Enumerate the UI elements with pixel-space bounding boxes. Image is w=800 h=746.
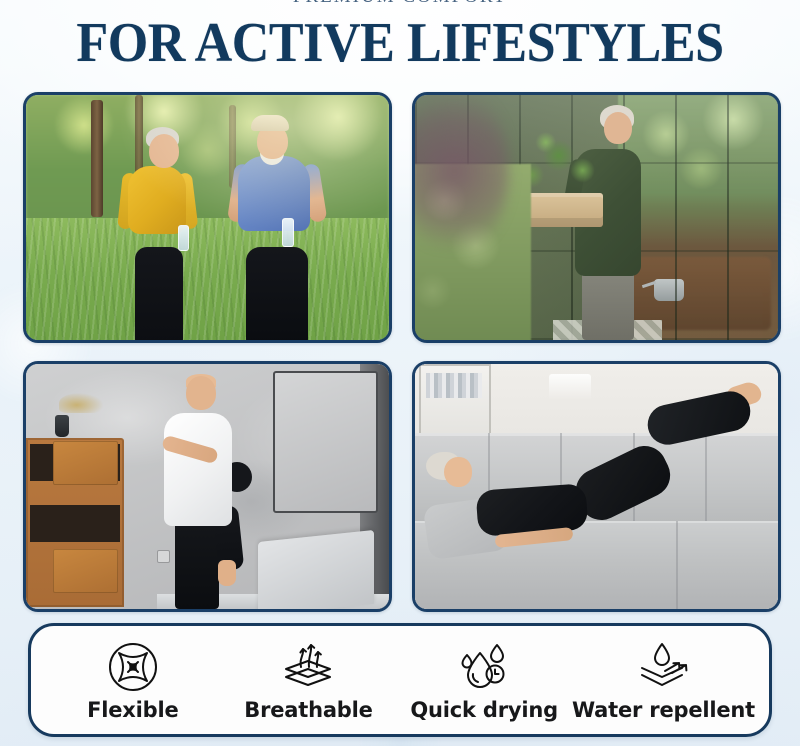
shelf-door xyxy=(53,549,118,593)
wooden-shelf-unit xyxy=(26,438,124,607)
feature-label: Breathable xyxy=(244,698,372,722)
gardener-head xyxy=(604,112,632,144)
feature-label: Water repellent xyxy=(572,698,755,722)
photo-card-man-stretching-indoors xyxy=(23,361,392,612)
quick-drying-droplet-clock-icon xyxy=(456,639,512,693)
dried-pampas-grass xyxy=(59,393,103,413)
shelf-door xyxy=(53,441,118,485)
dark-vase xyxy=(55,415,69,437)
feature-label: Quick drying xyxy=(410,698,558,722)
sofa-seam xyxy=(705,433,707,521)
flexible-stretch-icon xyxy=(107,639,159,693)
feature-flexible: Flexible xyxy=(45,639,221,722)
page-title: FOR ACTIVE LIFESTYLES xyxy=(28,14,772,72)
laptop xyxy=(258,529,374,609)
breathable-layers-icon xyxy=(278,639,338,693)
feature-breathable: Breathable xyxy=(221,639,397,722)
promo-banner: PREMIUM COMFORT FOR ACTIVE LIFESTYLES xyxy=(0,0,800,746)
photo-card-woman-greenhouse-plants xyxy=(412,92,781,343)
feature-water-repellent: Water repellent xyxy=(572,639,755,722)
wall-panel xyxy=(273,371,379,512)
photo-woman-sofa-legs-raised xyxy=(415,364,778,609)
floor-lamp-shade xyxy=(549,374,591,400)
photo-grid xyxy=(23,92,777,613)
bookshelf xyxy=(419,364,492,438)
sunlight-glow xyxy=(26,95,389,340)
water-repellent-droplet-icon xyxy=(632,639,694,693)
reclining-woman-black-top xyxy=(475,483,588,537)
feature-bar: Flexible Breathable xyxy=(28,623,772,737)
photo-card-woman-sofa-legs-raised xyxy=(412,361,781,612)
photo-man-stretching-indoors xyxy=(26,364,389,609)
stretching-man-head xyxy=(186,376,216,410)
reclining-woman-head xyxy=(444,457,472,487)
feature-label: Flexible xyxy=(87,698,178,722)
photo-seniors-walking-park xyxy=(26,95,389,340)
wall-outlet xyxy=(157,550,170,563)
photo-card-seniors-walking-park xyxy=(23,92,392,343)
clipped-top-text: PREMIUM COMFORT xyxy=(0,0,800,4)
stretching-man-foot xyxy=(218,560,236,586)
shelf-slot xyxy=(30,505,120,542)
sofa-seam xyxy=(676,521,678,609)
photo-woman-greenhouse-plants xyxy=(415,95,778,340)
feature-quick-drying: Quick drying xyxy=(396,639,572,722)
stretching-man-white-tshirt xyxy=(164,413,232,526)
